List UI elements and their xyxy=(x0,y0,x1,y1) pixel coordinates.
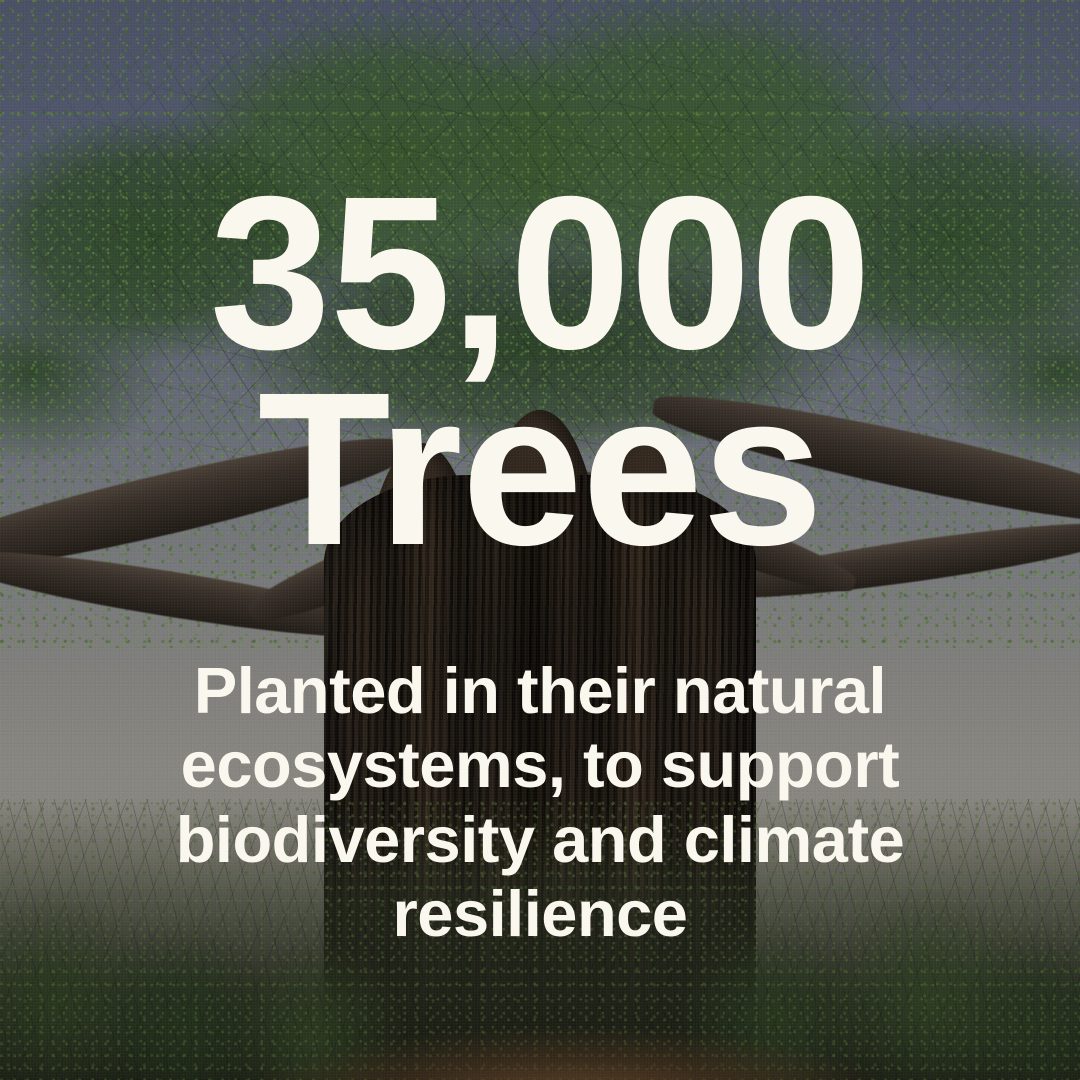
headline: 35,000 Trees xyxy=(0,176,1080,568)
stat-card: 35,000 Trees Planted in their natural ec… xyxy=(0,0,1080,1080)
body-description: Planted in their natural ecosystems, to … xyxy=(65,654,1015,950)
headline-line-unit: Trees xyxy=(0,372,1080,568)
headline-line-value: 35,000 xyxy=(0,176,1080,372)
text-overlay: 35,000 Trees Planted in their natural ec… xyxy=(0,0,1080,1080)
